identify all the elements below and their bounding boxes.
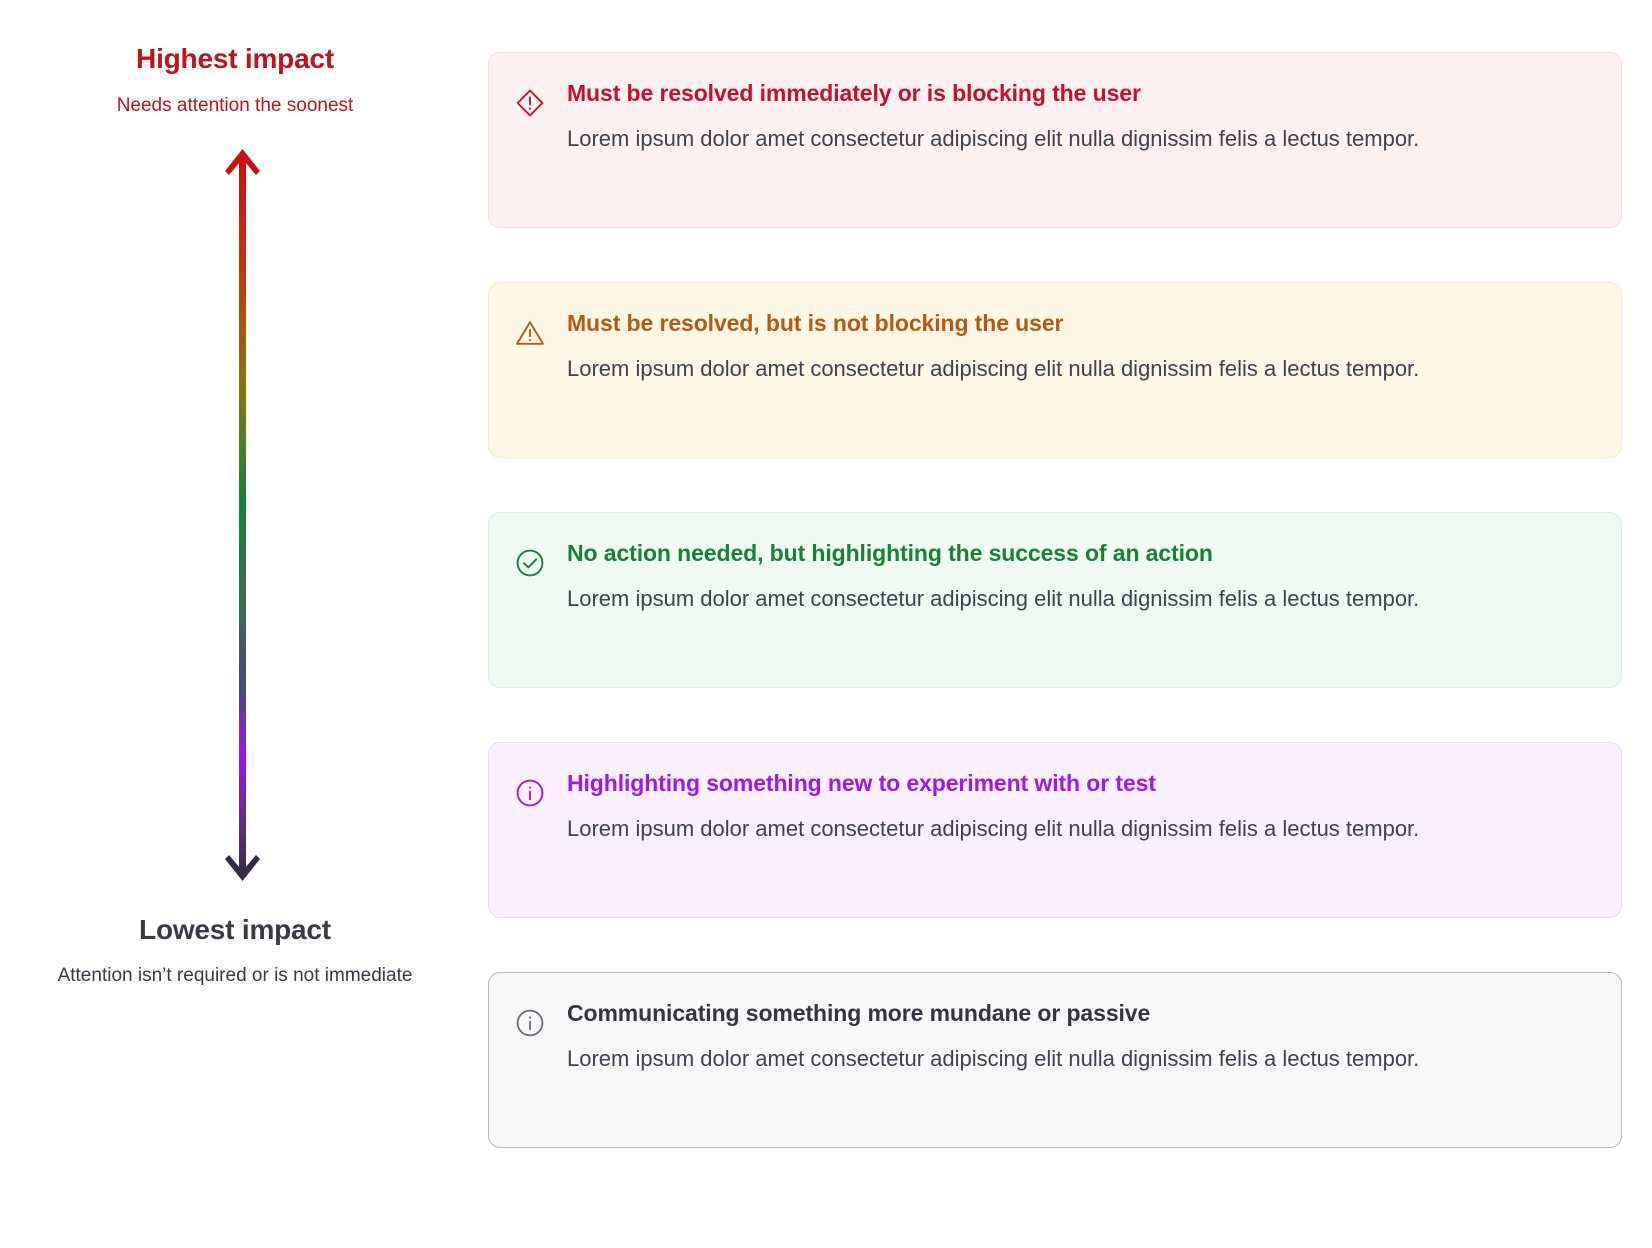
- circle-info-icon: [515, 778, 545, 808]
- circle-check-icon: [515, 548, 545, 578]
- impact-hierarchy-diagram: Highest impact Needs attention the soone…: [0, 0, 1652, 1248]
- alert-card-title: Must be resolved, but is not blocking th…: [567, 309, 1591, 338]
- alert-card-body: No action needed, but highlighting the s…: [567, 539, 1591, 618]
- alert-card-body: Must be resolved immediately or is block…: [567, 79, 1591, 158]
- highest-impact-label: Highest impact: [136, 44, 334, 75]
- alert-card-text: Lorem ipsum dolor amet consectetur adipi…: [567, 810, 1467, 848]
- lowest-impact-sublabel: Attention isn’t required or is not immed…: [58, 965, 413, 987]
- impact-scale: Highest impact Needs attention the soone…: [0, 0, 470, 1248]
- alert-card-success[interactable]: No action needed, but highlighting the s…: [488, 512, 1622, 688]
- alert-card-neutral[interactable]: Communicating something more mundane or …: [488, 972, 1622, 1148]
- alert-card-warning[interactable]: Must be resolved, but is not blocking th…: [488, 282, 1622, 458]
- lowest-impact-label: Lowest impact: [139, 915, 331, 946]
- alert-card-body: Must be resolved, but is not blocking th…: [567, 309, 1591, 388]
- triangle-exclamation-icon: [515, 318, 545, 348]
- diamond-exclamation-icon: [515, 88, 545, 118]
- circle-info-icon: [515, 1008, 545, 1038]
- alert-card-list: Must be resolved immediately or is block…: [470, 0, 1652, 1248]
- alert-card-body: Highlighting something new to experiment…: [567, 769, 1591, 848]
- alert-card-text: Lorem ipsum dolor amet consectetur adipi…: [567, 580, 1467, 618]
- alert-card-text: Lorem ipsum dolor amet consectetur adipi…: [567, 1040, 1467, 1078]
- alert-card-critical[interactable]: Must be resolved immediately or is block…: [488, 52, 1622, 228]
- double-ended-gradient-arrow-icon: [213, 145, 273, 885]
- gradient-arrow: [213, 145, 273, 885]
- highest-impact-sublabel: Needs attention the soonest: [117, 95, 354, 117]
- alert-card-text: Lorem ipsum dolor amet consectetur adipi…: [567, 350, 1467, 388]
- alert-card-title: No action needed, but highlighting the s…: [567, 539, 1591, 568]
- alert-card-text: Lorem ipsum dolor amet consectetur adipi…: [567, 120, 1467, 158]
- alert-card-title: Communicating something more mundane or …: [567, 999, 1591, 1028]
- alert-card-title: Highlighting something new to experiment…: [567, 769, 1591, 798]
- alert-card-info[interactable]: Highlighting something new to experiment…: [488, 742, 1622, 918]
- alert-card-body: Communicating something more mundane or …: [567, 999, 1591, 1078]
- alert-card-title: Must be resolved immediately or is block…: [567, 79, 1591, 108]
